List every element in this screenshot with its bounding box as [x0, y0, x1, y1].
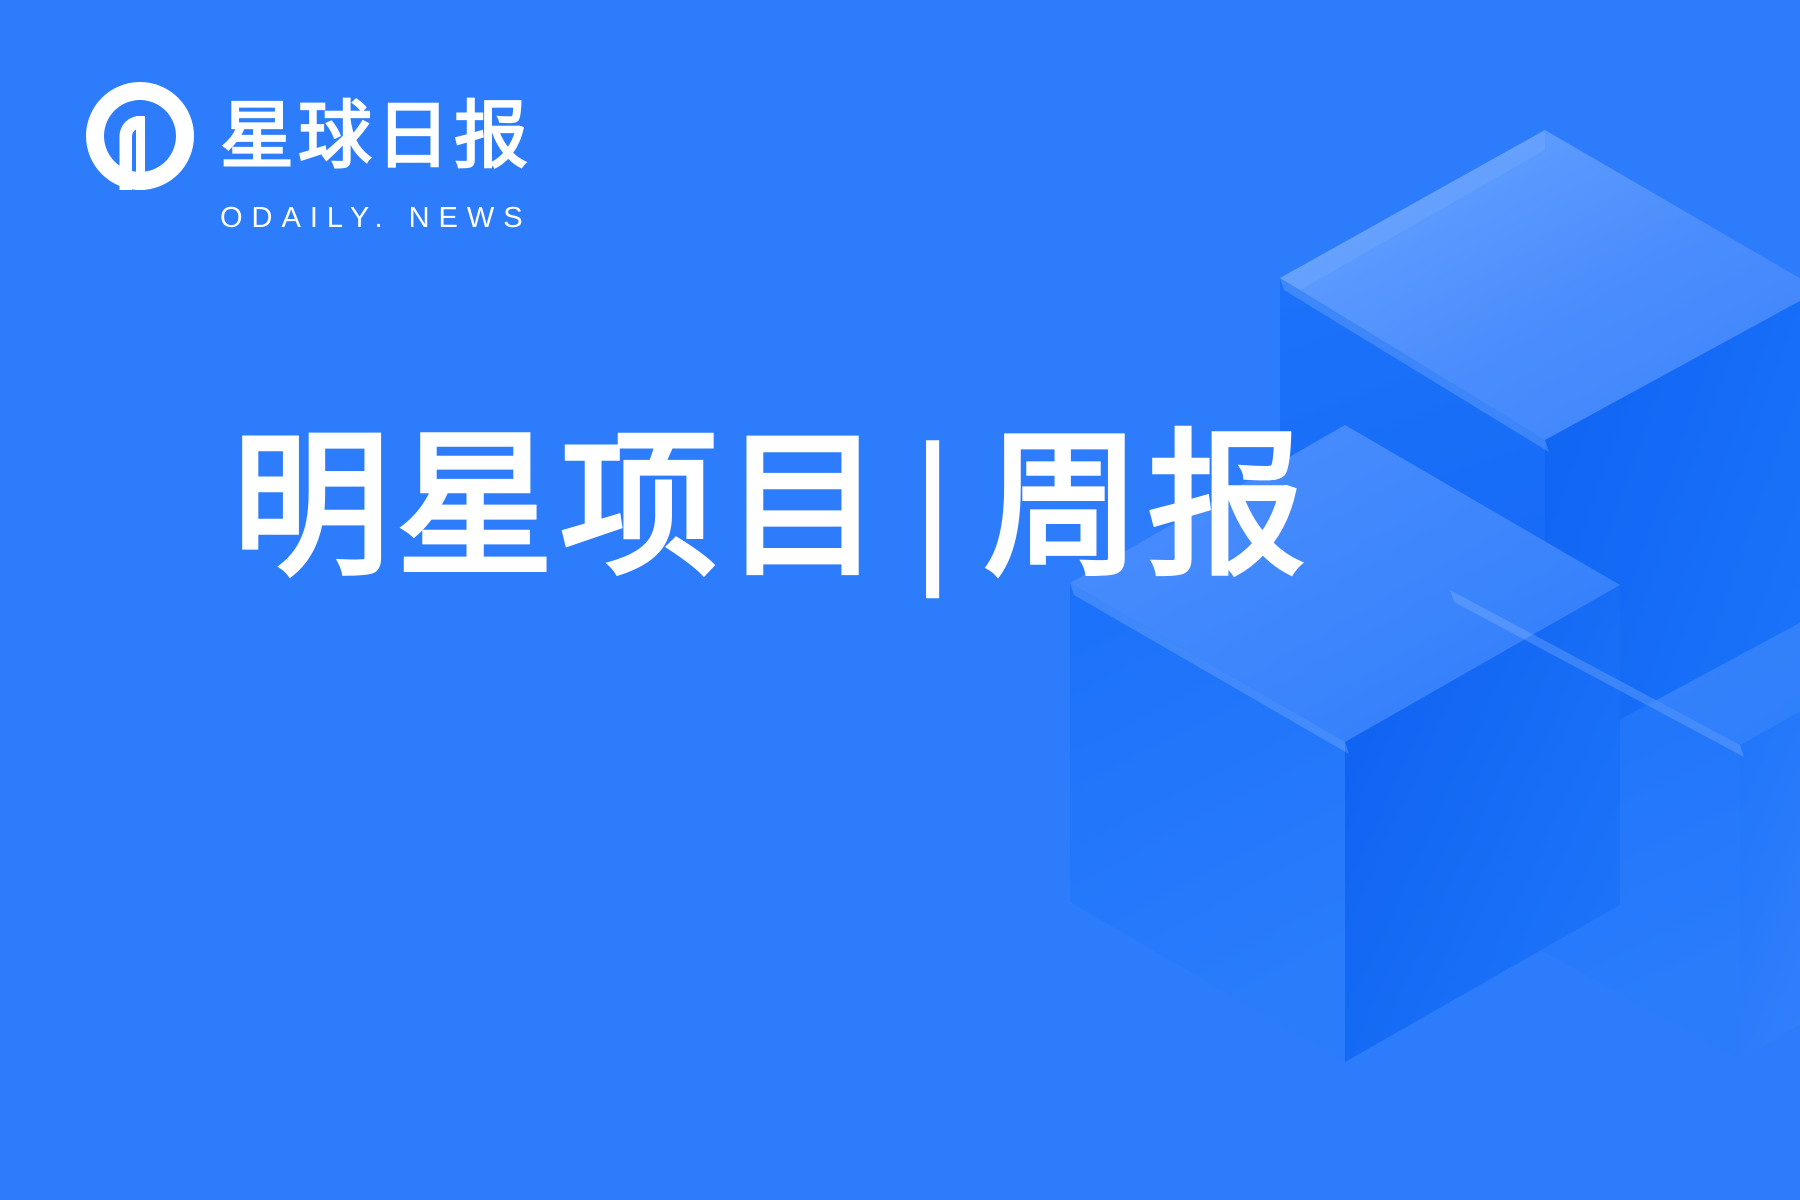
headline-secondary: 周报 — [983, 415, 1311, 599]
logo-row: 星球日报 — [86, 82, 532, 190]
page-title: 明星项目|周报 — [232, 424, 1311, 591]
odaily-planet-p-logo-icon — [86, 82, 194, 190]
brand-logo-block: 星球日报 ODAILY. NEWS — [86, 82, 532, 233]
cube-top — [1280, 130, 1800, 760]
brand-tagline: ODAILY. NEWS — [220, 204, 532, 233]
odaily-weekly-report-banner: 星球日报 ODAILY. NEWS 明星项目|周报 — [0, 0, 1800, 1200]
headline-separator: | — [888, 424, 983, 591]
cube-bottom-right — [1450, 430, 1800, 1060]
headline-primary: 明星项目 — [232, 415, 888, 599]
brand-wordmark: 星球日报 — [220, 99, 532, 173]
